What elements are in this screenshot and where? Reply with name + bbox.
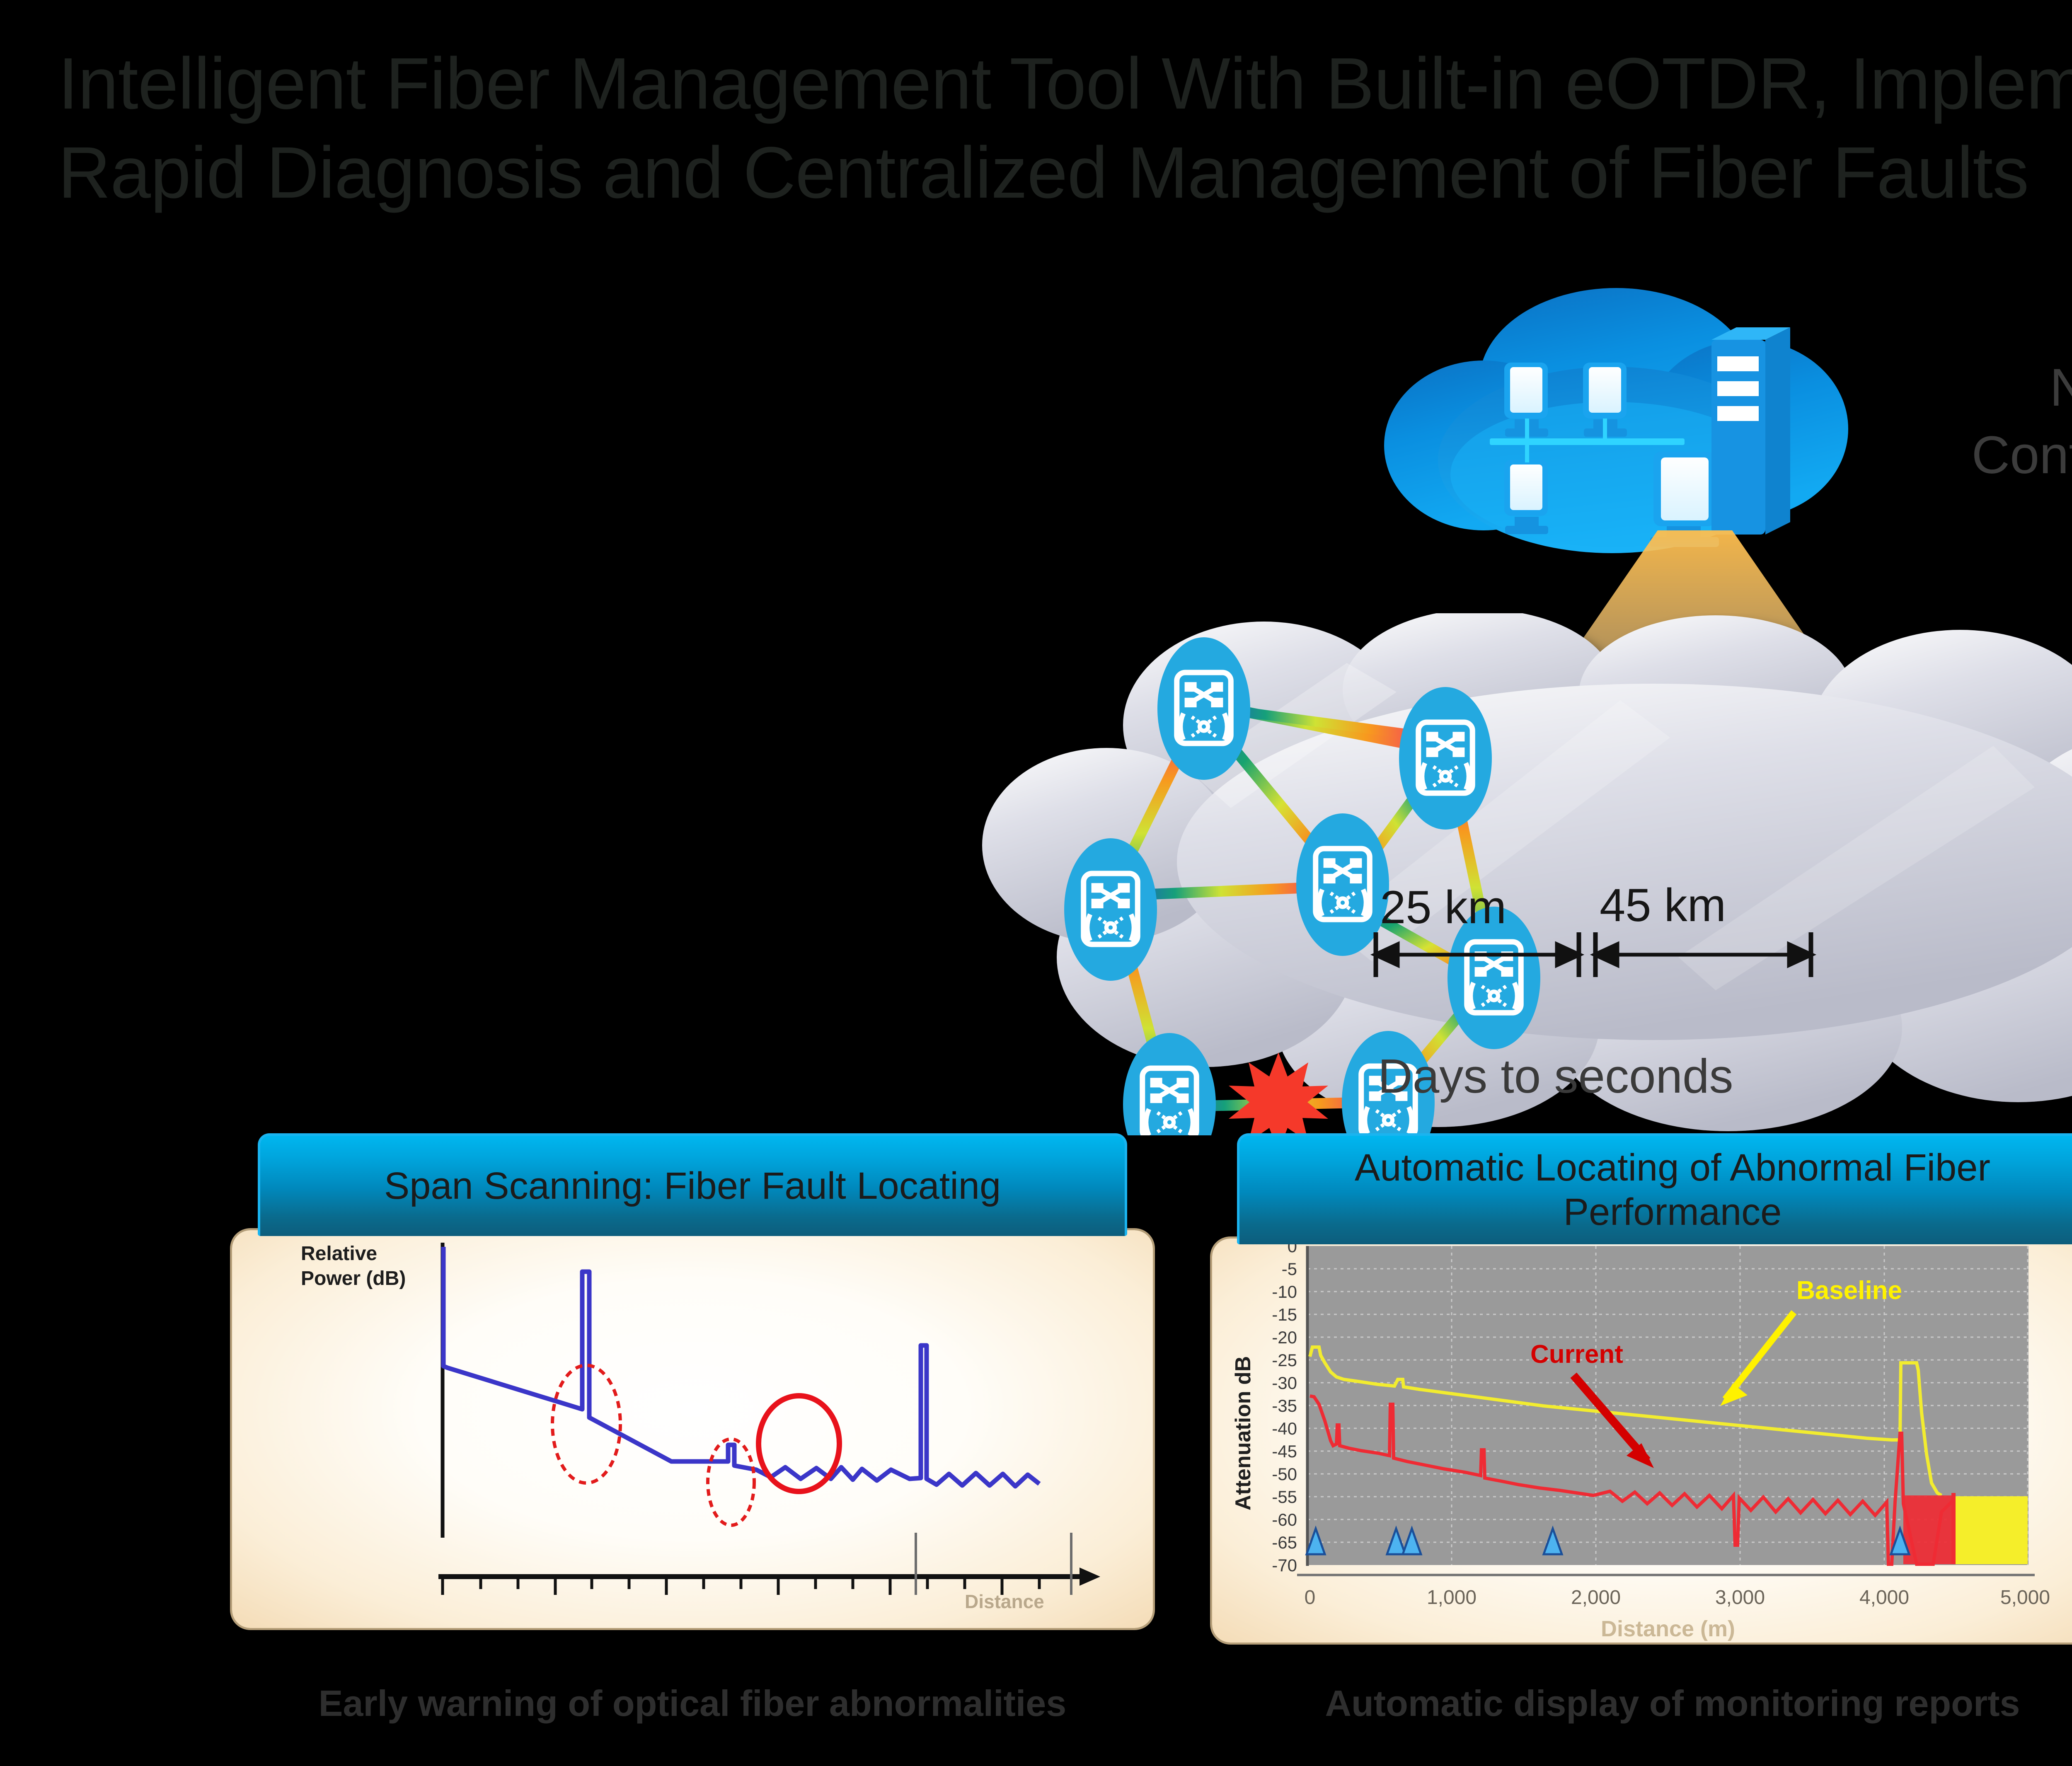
panel-body-mid: 0-5-10 -15-20-25 -30-35-40 -45-50-55 -60… — [1212, 1239, 2072, 1643]
page-title: Intelligent Fiber Management Tool With B… — [58, 39, 2072, 217]
svg-text:-60: -60 — [1272, 1510, 1297, 1529]
svg-text:-5: -5 — [1282, 1259, 1297, 1279]
panel-body-left: Relative Power (dB) Distance — [232, 1230, 1153, 1628]
otdr-node — [1157, 637, 1250, 780]
svg-text:-10: -10 — [1272, 1282, 1297, 1302]
svg-text:-15: -15 — [1272, 1305, 1297, 1324]
svg-text:-55: -55 — [1272, 1487, 1297, 1507]
svg-text:5,000: 5,000 — [2000, 1587, 2050, 1609]
svg-text:3,000: 3,000 — [1715, 1587, 1765, 1609]
nms-label: Network Management, Control, and Analysi… — [1964, 354, 2072, 489]
svg-text:-25: -25 — [1272, 1350, 1297, 1370]
svg-text:-45: -45 — [1272, 1442, 1297, 1461]
panel-header-left[interactable]: Span Scanning: Fiber Fault Locating — [258, 1133, 1127, 1236]
svg-text:1,000: 1,000 — [1427, 1587, 1477, 1609]
otdr-node — [1399, 687, 1492, 830]
days-to-seconds-label: Days to seconds — [1378, 1048, 1733, 1104]
svg-text:0: 0 — [1305, 1587, 1316, 1609]
svg-text:4,000: 4,000 — [1859, 1587, 1909, 1609]
annotation-current: Current — [1530, 1340, 1623, 1369]
svg-text:-35: -35 — [1272, 1396, 1297, 1415]
baseline-current-chart: 0-5-10 -15-20-25 -30-35-40 -45-50-55 -60… — [1212, 1239, 2072, 1643]
annotation-circle-1 — [552, 1365, 620, 1483]
dimension-arrows — [1363, 924, 1828, 986]
svg-text:-70: -70 — [1272, 1556, 1297, 1575]
nms-cloud — [1326, 286, 1906, 555]
caption-mid: Automatic display of monitoring reports — [1212, 1682, 2072, 1725]
svg-text:-50: -50 — [1272, 1464, 1297, 1484]
chart-left-ylabel-1: Relative — [301, 1243, 377, 1265]
chart-left-ylabel-2: Power (dB) — [301, 1268, 406, 1289]
chart-mid-ylabel: Attenuation dB — [1231, 1356, 1255, 1511]
otdr-node — [1064, 838, 1157, 981]
panel-header-mid-text: Automatic Locating of Abnormal Fiber Per… — [1355, 1146, 1990, 1234]
panel-header-mid[interactable]: Automatic Locating of Abnormal Fiber Per… — [1237, 1133, 2072, 1244]
caption-left: Early warning of optical fiber abnormali… — [232, 1682, 1153, 1725]
annotation-baseline: Baseline — [1796, 1276, 1902, 1305]
chart-left-xlabel: Distance — [965, 1591, 1044, 1612]
chart-mid-xlabel: Distance (m) — [1601, 1616, 1735, 1641]
annotation-circle-2 — [708, 1439, 754, 1525]
panel-header-left-text: Span Scanning: Fiber Fault Locating — [384, 1164, 1001, 1208]
svg-text:-20: -20 — [1272, 1328, 1297, 1347]
server-cloud-icon — [1326, 286, 1906, 555]
svg-text:-40: -40 — [1272, 1419, 1297, 1438]
span-scanning-chart: Relative Power (dB) Distance — [232, 1230, 1153, 1628]
panel-span-scanning: Span Scanning: Fiber Fault Locating Rela… — [232, 1133, 1153, 1628]
svg-text:2,000: 2,000 — [1571, 1587, 1621, 1609]
svg-text:-65: -65 — [1272, 1533, 1297, 1552]
panel-abnormal-fiber: Automatic Locating of Abnormal Fiber Per… — [1212, 1133, 2072, 1643]
svg-text:-30: -30 — [1272, 1373, 1297, 1393]
